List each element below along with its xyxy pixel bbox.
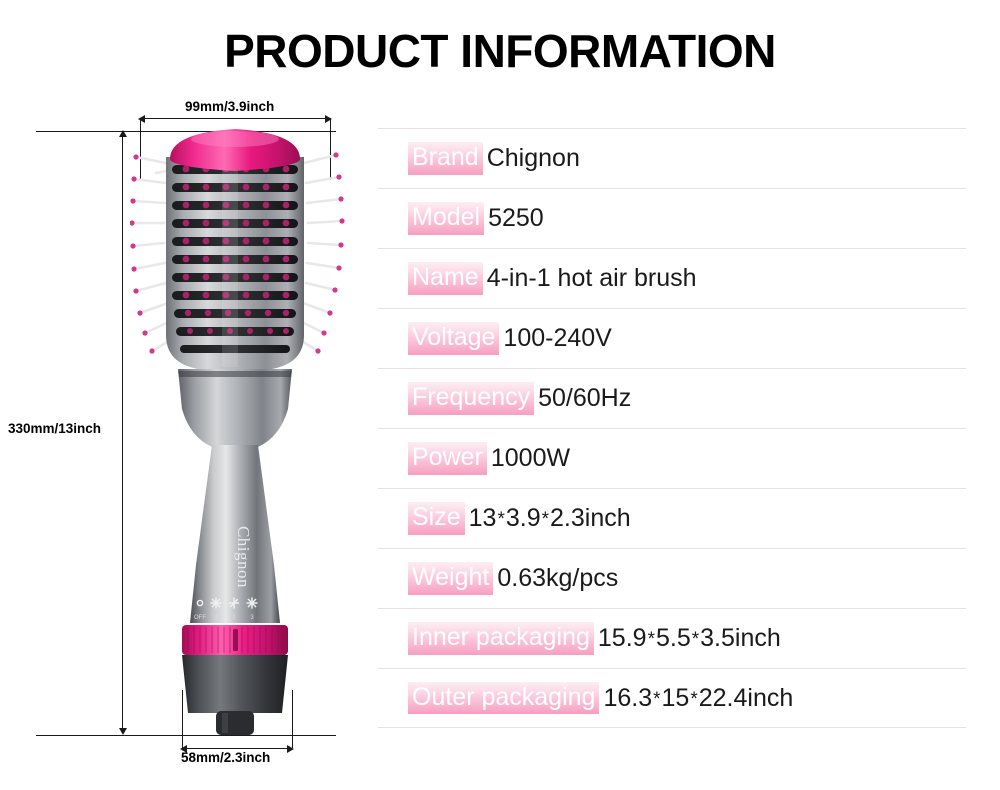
dimension-bottom-width-label: 58mm/2.3inch (181, 750, 270, 765)
spec-value-weight: 0.63kg/pcs (497, 564, 618, 593)
spec-label-brand: Brand (408, 142, 483, 175)
product-information-page: PRODUCT INFORMATION 99mm/3.9inch 330mm/1… (0, 0, 1000, 790)
dimension-top-width-line (144, 118, 327, 119)
table-row: Name 4-in-1 hot air brush (378, 248, 966, 308)
cable-stub (216, 711, 254, 735)
spec-value-brand: Chignon (487, 144, 580, 173)
dimension-height-label: 330mm/13inch (8, 421, 101, 436)
spec-label-voltage: Voltage (408, 322, 499, 355)
dimension-height-line (122, 136, 123, 730)
dimension-bottom-width-line (186, 748, 289, 749)
specification-table: Brand Chignon Model 5250 Name 4-in-1 hot… (378, 128, 966, 728)
table-row: Brand Chignon (378, 128, 966, 188)
brush-base (182, 655, 288, 713)
spec-value-size: 13*3.9*2.3inch (469, 504, 631, 533)
spec-label-power: Power (408, 442, 487, 475)
spec-value-voltage: 100-240V (503, 324, 611, 353)
spec-value-name: 4-in-1 hot air brush (487, 264, 697, 293)
spec-label-size: Size (408, 502, 465, 535)
page-title: PRODUCT INFORMATION (0, 24, 1000, 78)
spec-value-frequency: 50/60Hz (538, 384, 631, 413)
table-row: Size 13*3.9*2.3inch (378, 488, 966, 548)
spec-label-weight: Weight (408, 562, 493, 595)
table-row: Model 5250 (378, 188, 966, 248)
table-row: Voltage 100-240V (378, 308, 966, 368)
table-row: Power 1000W (378, 428, 966, 488)
spec-label-name: Name (408, 262, 483, 295)
spec-label-inner-packaging: Inner packaging (408, 622, 594, 655)
dimension-height-arrow-up (119, 130, 127, 137)
table-row: Weight 0.63kg/pcs (378, 548, 966, 608)
brand-logo-text: Chignon (234, 526, 253, 588)
spec-label-outer-packaging: Outer packaging (408, 682, 599, 715)
spec-value-power: 1000W (491, 444, 570, 473)
table-row: Inner packaging 15.9*5.5*3.5inch (378, 608, 966, 668)
spec-value-outer-packaging: 16.3*15*22.4inch (603, 684, 793, 713)
spec-value-inner-packaging: 15.9*5.5*3.5inch (598, 624, 781, 653)
table-row: Outer packaging 16.3*15*22.4inch (378, 668, 966, 728)
spec-label-model: Model (408, 202, 484, 235)
product-image-hot-air-brush: Chignon (130, 125, 350, 740)
spec-value-model: 5250 (488, 204, 544, 233)
spec-label-frequency: Frequency (408, 382, 534, 415)
dimension-top-width-label: 99mm/3.9inch (185, 99, 274, 114)
svg-text:OFF: OFF (194, 615, 206, 621)
brush-neck (178, 369, 292, 447)
table-row: Frequency 50/60Hz (378, 368, 966, 428)
dimension-height-arrow-down (119, 728, 127, 735)
